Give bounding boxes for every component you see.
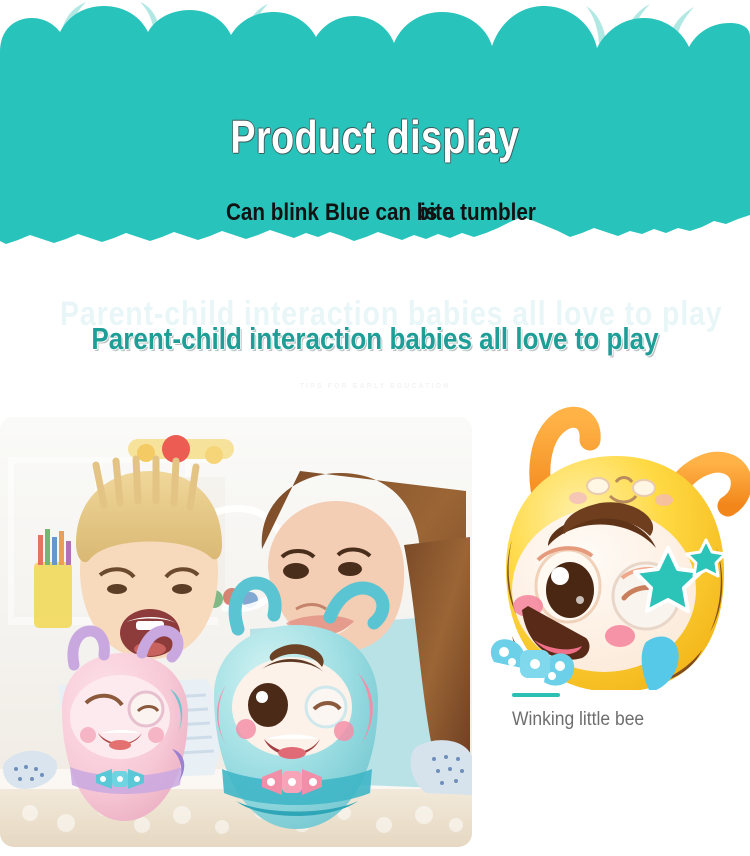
section-headline: Parent-child interaction babies all love…	[60, 322, 690, 356]
pencil-cup	[34, 529, 72, 628]
subtitle-is-a-tumbler: is a tumbler	[420, 196, 536, 230]
caption-text: Winking little bee	[512, 709, 724, 731]
hanging-mobile	[128, 435, 234, 464]
product-display-page: Product display Can blink Blue can bite …	[0, 0, 750, 856]
lifestyle-photo-illustration	[0, 417, 472, 847]
bee-product-photo	[478, 400, 750, 690]
caption-rule	[512, 693, 560, 697]
bee-caption-block: Winking little bee	[512, 693, 742, 731]
header-banner: Product display Can blink Blue can bite …	[0, 0, 750, 252]
lifestyle-photo	[0, 417, 472, 847]
bee-open-eye	[536, 548, 600, 622]
page-title: Product display	[68, 113, 683, 161]
subtitle-can-blink: Can blink	[226, 196, 319, 230]
winking-bee-illustration	[478, 400, 750, 690]
banner-subtitle-row: Can blink Blue can bite is a tumbler	[0, 196, 750, 230]
headline-section: Parent-child interaction babies all love…	[0, 252, 750, 410]
eyebrow-text: TIPS FOR EARLY EDUCATION	[0, 383, 750, 390]
